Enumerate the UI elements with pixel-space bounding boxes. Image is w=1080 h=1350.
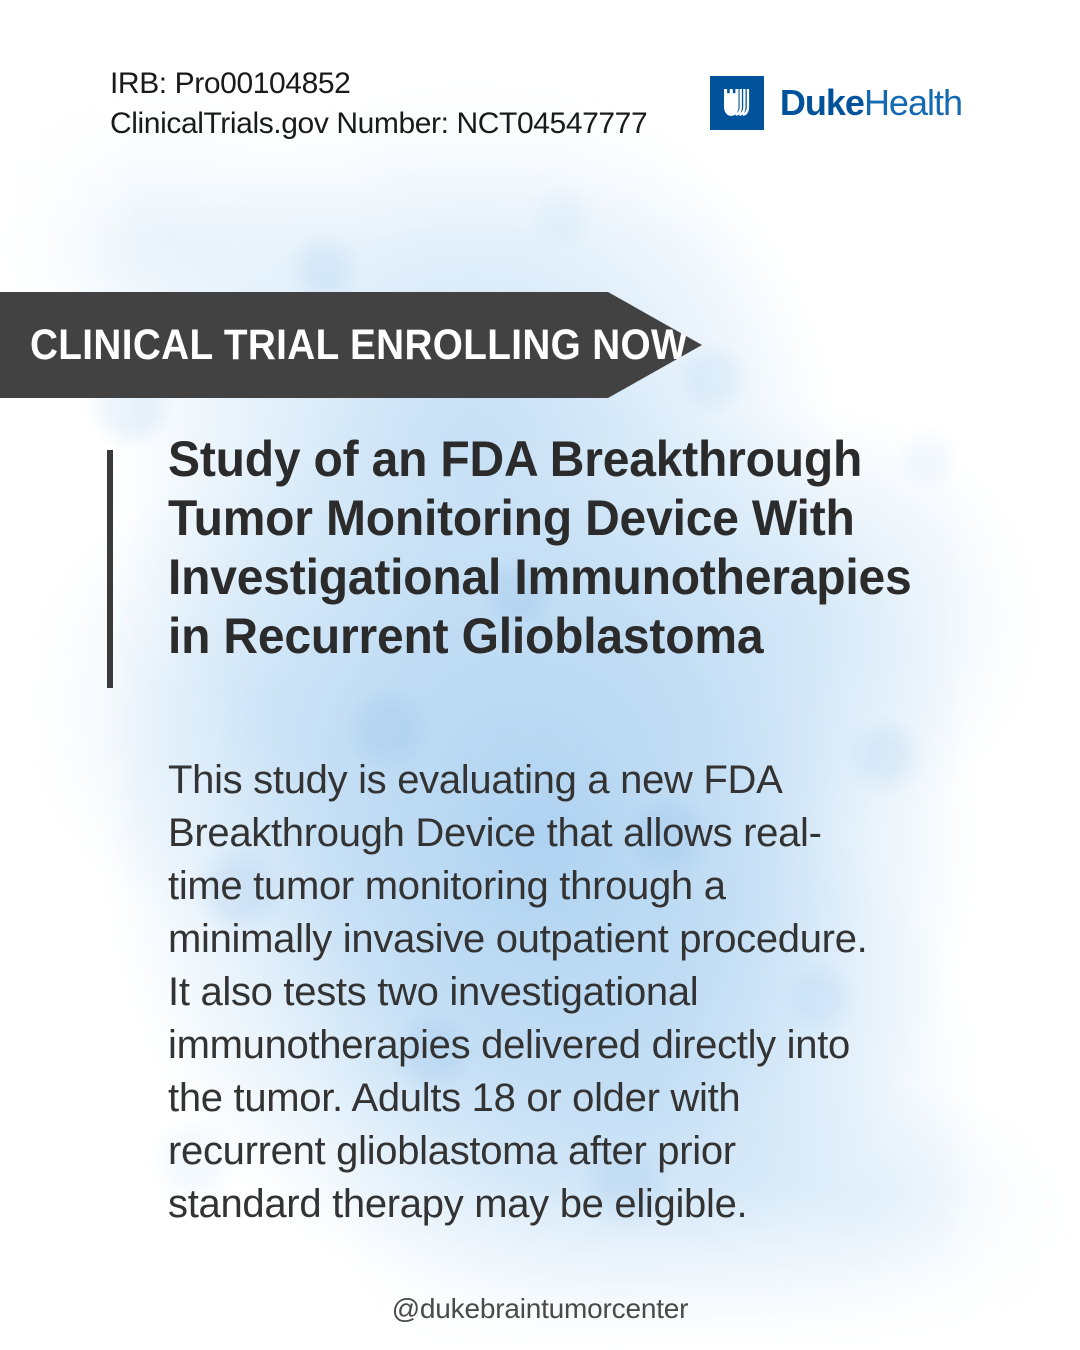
social-handle: @dukebraintumorcenter [0,1293,1080,1325]
duke-shield-icon [710,76,764,130]
clinical-trial-poster: IRB: Pro00104852 ClinicalTrials.gov Numb… [0,0,1080,1350]
duke-health-wordmark: DukeHealth [780,85,962,121]
duke-health-logo: DukeHealth [710,76,962,130]
banner-label: CLINICAL TRIAL ENROLLING NOW [30,324,688,367]
headline-block: Study of an FDA Breakthrough Tumor Monit… [0,430,1080,666]
poster-content: Study of an FDA Breakthrough Tumor Monit… [0,430,1080,1325]
study-description: This study is evaluating a new FDA Break… [0,754,980,1231]
clinicaltrials-number: ClinicalTrials.gov Number: NCT04547777 [110,104,647,144]
irb-number: IRB: Pro00104852 [110,64,647,104]
trial-identifiers: IRB: Pro00104852 ClinicalTrials.gov Numb… [110,64,647,144]
study-title: Study of an FDA Breakthrough Tumor Monit… [168,430,936,666]
poster-header: IRB: Pro00104852 ClinicalTrials.gov Numb… [0,0,1080,180]
logo-word-duke: Duke [780,82,864,123]
enrolling-now-banner: CLINICAL TRIAL ENROLLING NOW [0,292,702,398]
logo-word-health: Health [864,82,962,123]
headline-accent-rule [107,450,113,688]
